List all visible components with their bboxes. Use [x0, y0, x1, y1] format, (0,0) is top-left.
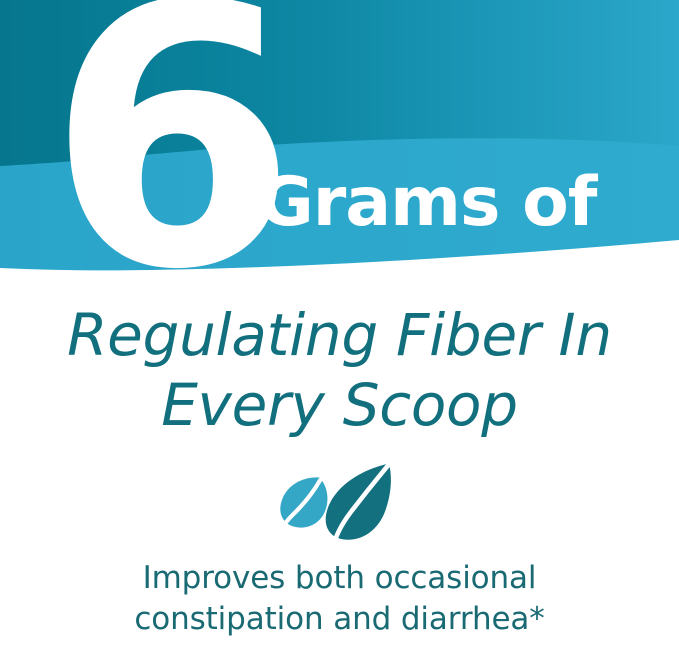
leaf-icon-svg	[278, 462, 402, 540]
headline-line-1: Regulating Fiber In	[0, 300, 679, 370]
headline-line-2: Every Scoop	[0, 370, 679, 440]
subtext-line-2: constipation and diarrhea*	[0, 599, 679, 640]
headline: Regulating Fiber In Every Scoop	[0, 300, 679, 440]
header-banner: 6 Grams of	[0, 0, 679, 300]
banner-shapes	[0, 0, 679, 300]
subtext: Improves both occasional constipation an…	[0, 558, 679, 640]
subtext-line-1: Improves both occasional	[0, 558, 679, 599]
fiber-supplement-promo-graphic: 6 Grams of Regulating Fiber In Every Sco…	[0, 0, 679, 648]
leaf-icon	[278, 462, 402, 540]
